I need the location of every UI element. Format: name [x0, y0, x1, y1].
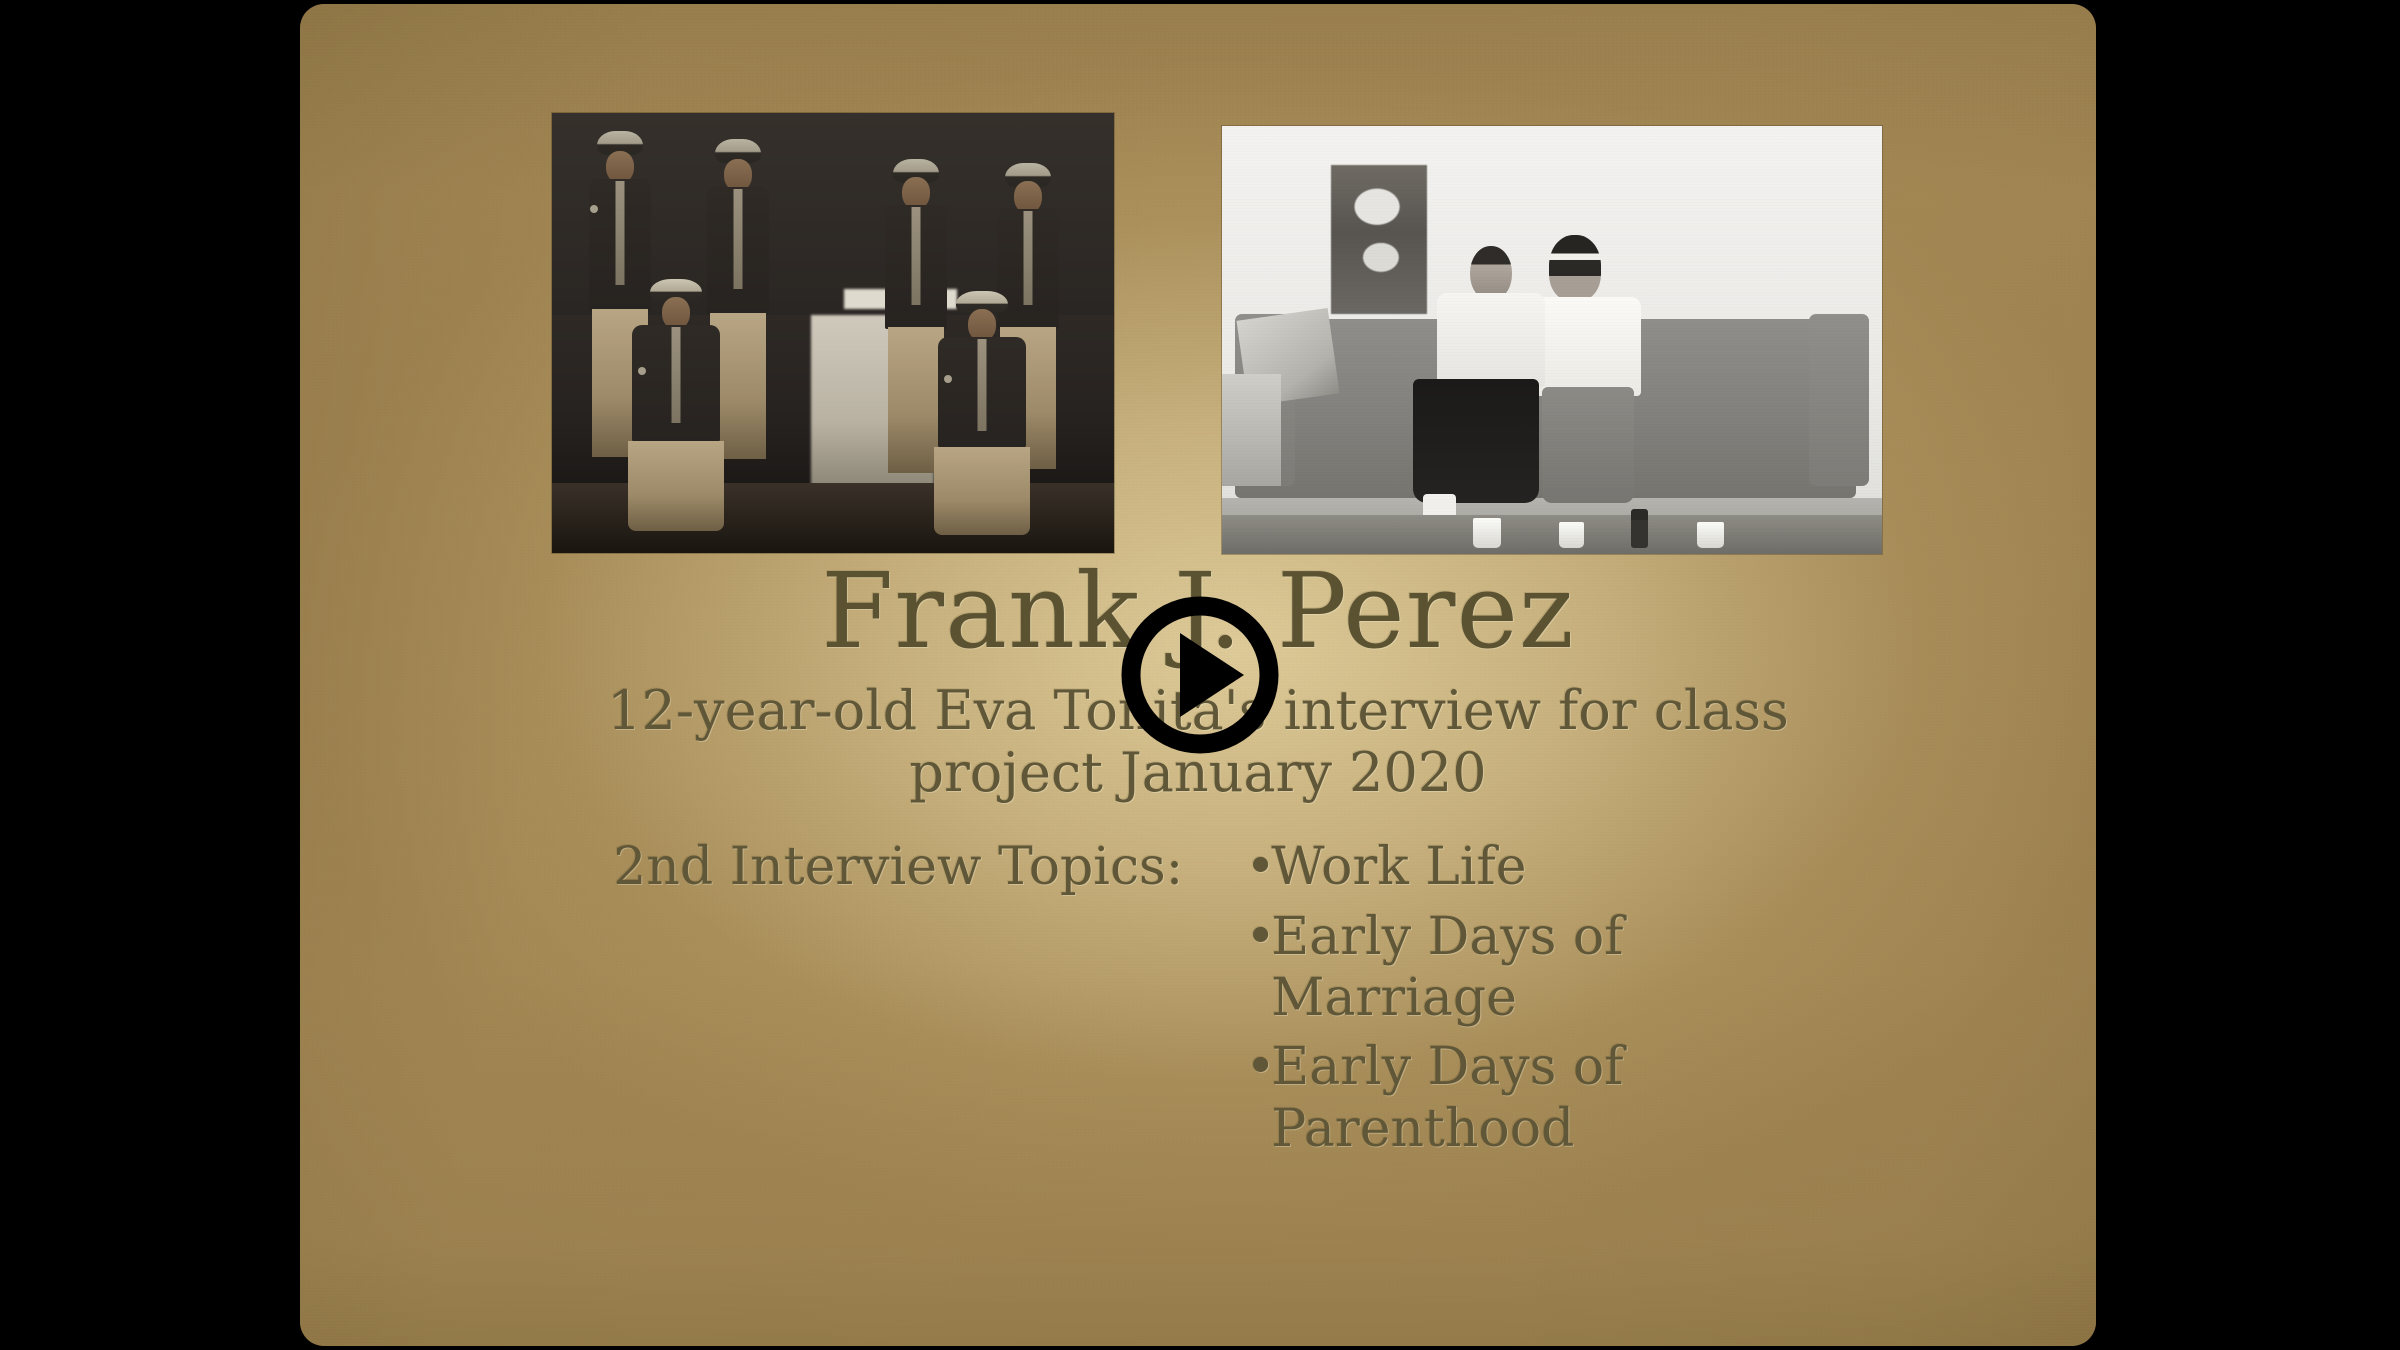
- bullet-icon: •: [1245, 1037, 1271, 1098]
- officer-badge: [590, 205, 598, 213]
- officer-kneeling-1: [616, 279, 736, 539]
- bullet-icon: •: [1245, 837, 1271, 898]
- play-button[interactable]: [1120, 595, 1280, 755]
- list-item-label: Early Days of Marriage: [1271, 907, 1675, 1030]
- officer-kneeling-2: [922, 291, 1042, 539]
- police-officers-group-photo: [552, 113, 1114, 553]
- officer-tie: [734, 189, 743, 289]
- interview-topics-list: • Work Life • Early Days of Marriage • E…: [1229, 837, 2052, 1168]
- officer-badge: [638, 367, 646, 375]
- photo-grain-texture: [1222, 126, 1882, 554]
- list-item-label: Early Days of Parenthood: [1271, 1037, 1675, 1160]
- officer-legs: [628, 441, 724, 531]
- officer-tie: [616, 181, 625, 285]
- officer-tie: [978, 339, 987, 431]
- officer-legs: [934, 447, 1030, 535]
- officer-tie: [912, 207, 921, 305]
- interview-topics-section: 2nd Interview Topics: • Work Life • Earl…: [300, 837, 2096, 1168]
- bullet-icon: •: [1245, 907, 1271, 968]
- list-item: • Early Days of Marriage: [1245, 907, 1675, 1030]
- interview-topics-label: 2nd Interview Topics:: [338, 837, 1229, 897]
- couple-on-couch-photo: [1222, 126, 1882, 554]
- video-player-stage: Frank J. Perez 12-year-old Eva Tonita's …: [0, 0, 2400, 1350]
- officer-tie: [672, 327, 681, 423]
- officer-badge: [944, 375, 952, 383]
- list-item-label: Work Life: [1271, 837, 1675, 898]
- list-item: • Early Days of Parenthood: [1245, 1037, 1675, 1160]
- list-item: • Work Life: [1245, 837, 1675, 898]
- play-triangle-icon[interactable]: [1120, 595, 1280, 755]
